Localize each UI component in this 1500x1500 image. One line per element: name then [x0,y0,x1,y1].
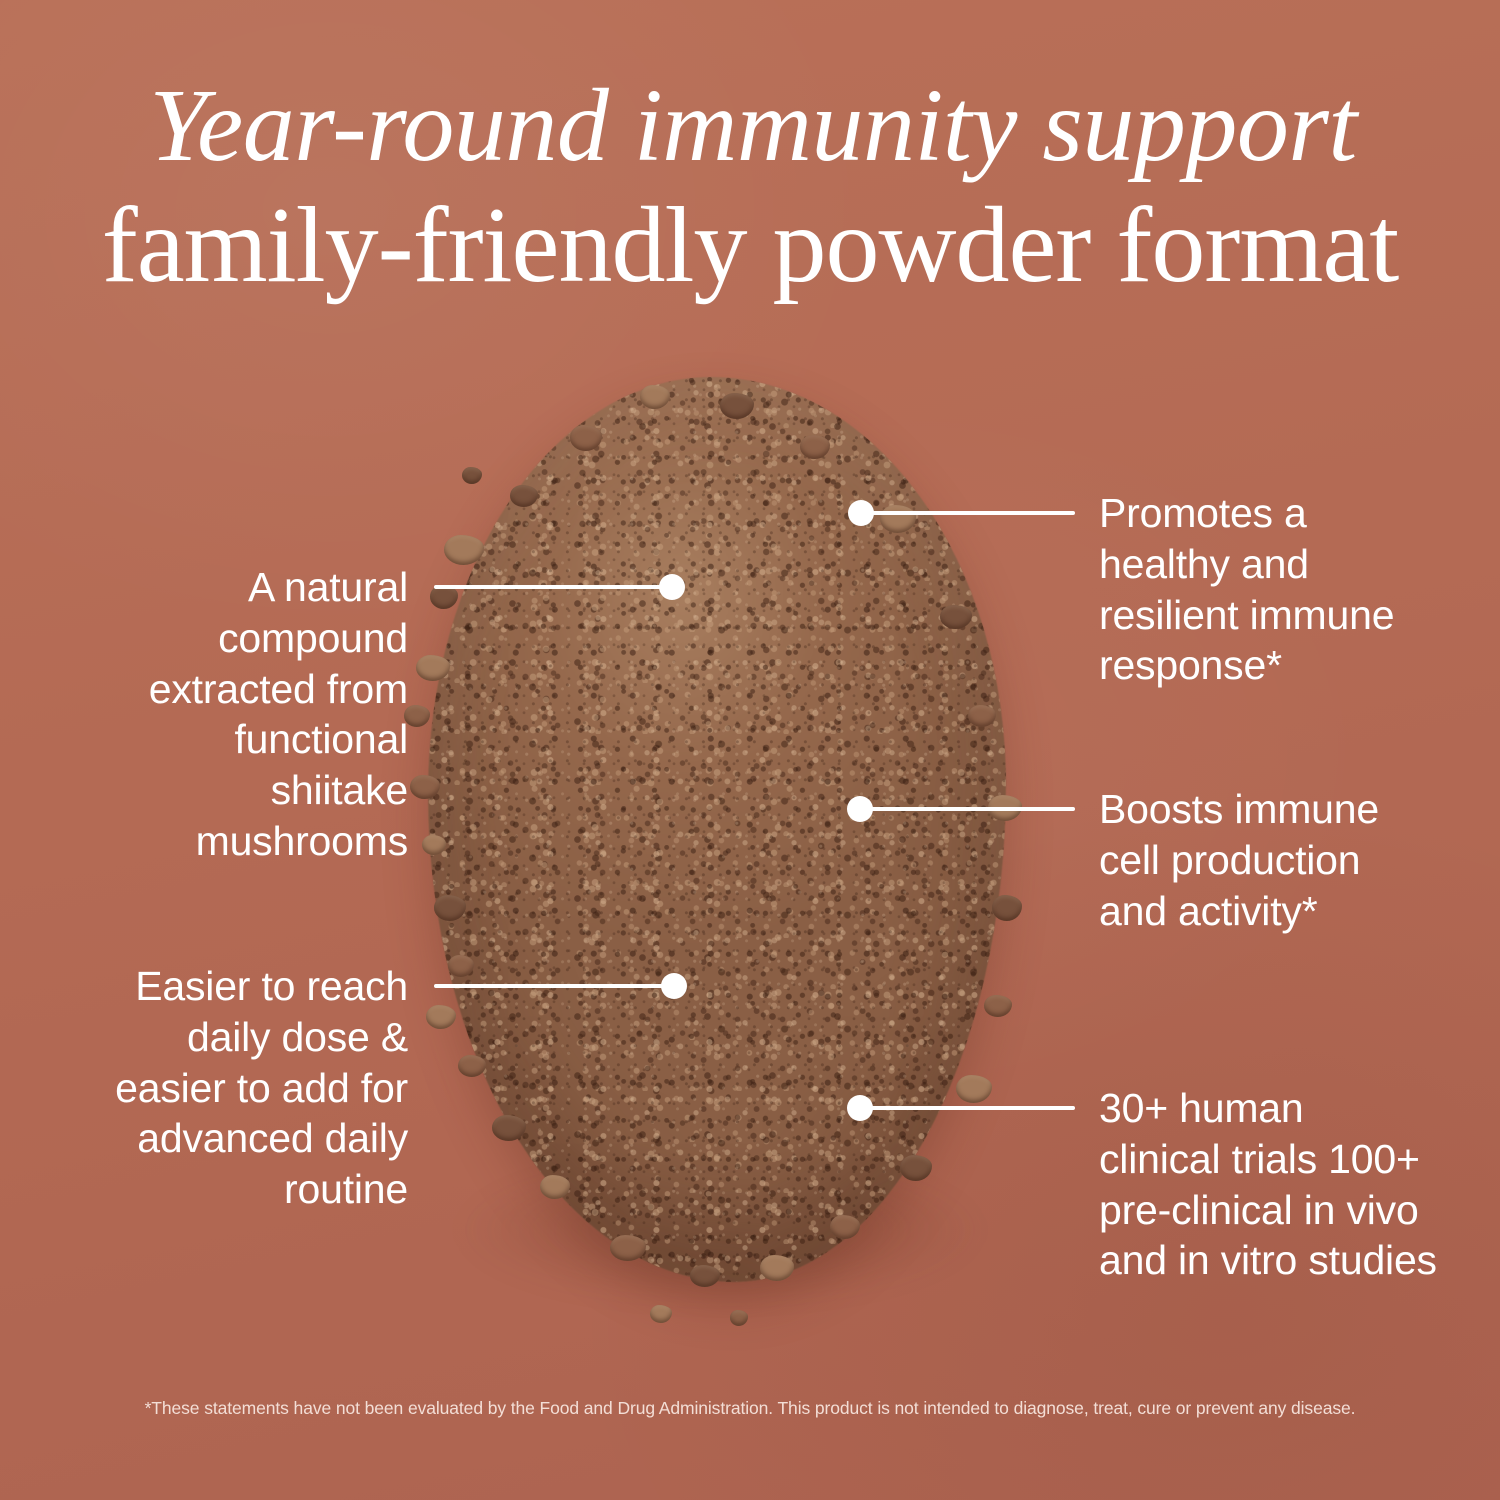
fda-disclaimer: *These statements have not been evaluate… [0,1398,1500,1419]
callout-line: routine [60,1164,408,1215]
infographic-canvas: Year-round immunity support family-frien… [0,0,1500,1500]
powder-crumb [984,995,1012,1017]
powder-crumb [992,895,1022,921]
powder-crumb [462,467,482,484]
headline-line-1: Year-round immunity support [0,74,1500,178]
callout-line: pre-clinical in vivo [1099,1185,1489,1236]
powder-crumb [458,1055,486,1077]
leader-dot-easier-dose [661,973,687,999]
callout-line: cell production [1099,835,1479,886]
leader-line-immune-response [872,511,1075,515]
leader-dot-clinical-trials [847,1095,873,1121]
callout-line: A natural [60,562,408,613]
powder-crumb [426,1005,456,1029]
callout-immune-cells: Boosts immune cell production and activi… [1099,784,1479,936]
leader-line-natural-compound [434,585,672,589]
leader-dot-immune-cells [847,796,873,822]
headline-line-2: family-friendly powder format [0,192,1500,300]
callout-line: and activity* [1099,886,1479,937]
callout-line: daily dose & [60,1012,408,1063]
callout-easier-dose: Easier to reach daily dose & easier to a… [60,961,408,1215]
leader-dot-natural-compound [659,574,685,600]
callout-immune-response: Promotes a healthy and resilient immune … [1099,488,1479,691]
callout-clinical-trials: 30+ human clinical trials 100+ pre-clini… [1099,1083,1489,1286]
leader-line-immune-cells [871,807,1075,811]
callout-line: functional [60,714,408,765]
leader-line-easier-dose [434,984,674,988]
callout-line: extracted from [60,664,408,715]
powder-crumb [956,1075,992,1103]
callout-line: Boosts immune [1099,784,1479,835]
leader-dot-immune-response [848,500,874,526]
callout-line: compound [60,613,408,664]
callout-line: easier to add for [60,1063,408,1114]
powder-crumb [730,1310,748,1326]
callout-line: resilient immune [1099,590,1479,641]
powder-pile-image [400,355,1030,1315]
powder-crumb [650,1305,672,1323]
callout-line: response* [1099,640,1479,691]
callout-natural-compound: A natural compound extracted from functi… [60,562,408,867]
callout-line: and in vitro studies [1099,1235,1489,1286]
callout-line: Easier to reach [60,961,408,1012]
callout-line: Promotes a [1099,488,1479,539]
callout-line: mushrooms [60,816,408,867]
powder-crumb [900,1155,932,1181]
callout-line: advanced daily [60,1113,408,1164]
callout-line: 30+ human [1099,1083,1489,1134]
page-title: Year-round immunity support family-frien… [0,74,1500,300]
leader-line-clinical-trials [871,1106,1075,1110]
callout-line: shiitake [60,765,408,816]
callout-line: healthy and [1099,539,1479,590]
callout-line: clinical trials 100+ [1099,1134,1489,1185]
